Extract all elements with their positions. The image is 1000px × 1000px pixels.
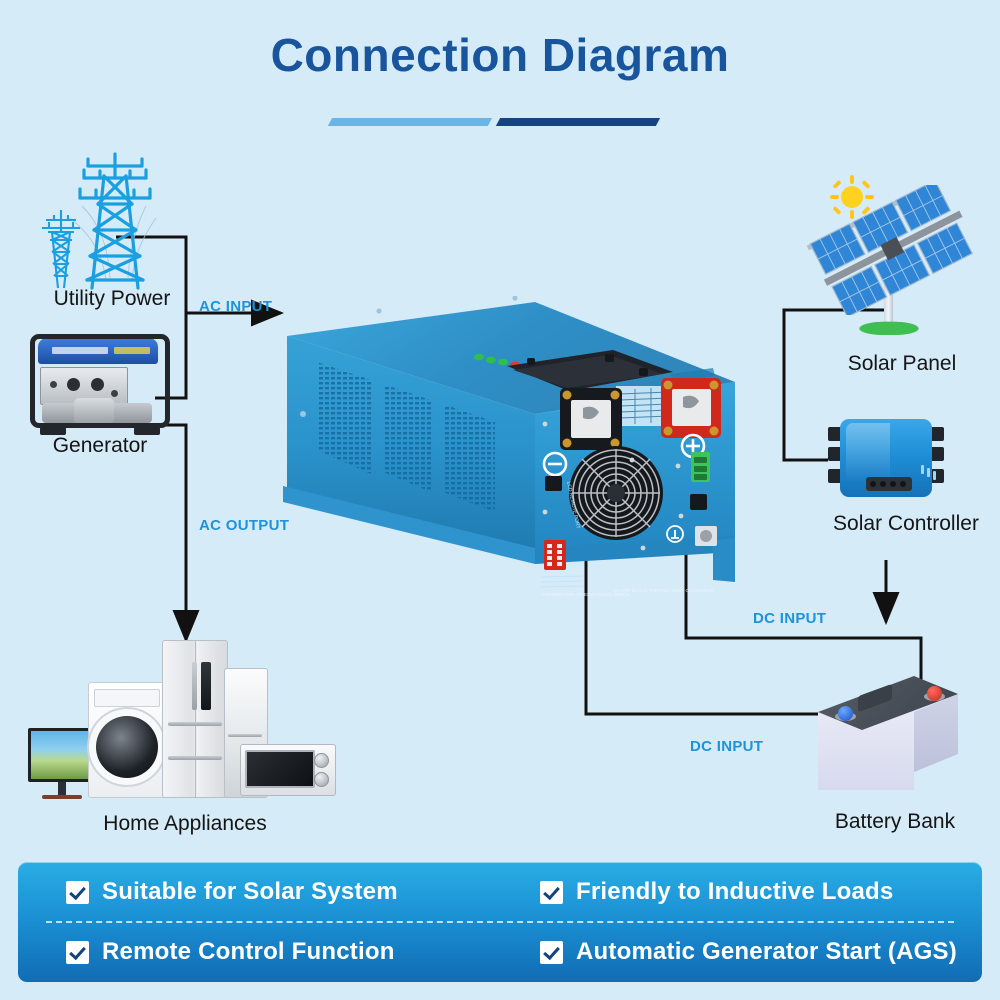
battery-icon xyxy=(818,668,966,800)
appliances-icon xyxy=(28,630,348,820)
divider-dark-segment xyxy=(496,118,660,126)
features-row-1: Suitable for Solar System Friendly to In… xyxy=(18,863,982,921)
feature-item-4[interactable]: Automatic Generator Start (AGS) xyxy=(508,938,982,966)
portable-generator-icon xyxy=(30,334,170,428)
dc-input-lower-label: DC INPUT xyxy=(690,738,763,755)
feature-item-3[interactable]: Remote Control Function xyxy=(18,938,508,966)
dc-input-upper-label: DC INPUT xyxy=(753,610,826,627)
svg-text:DO NOT BLOCK THE FAN / KEEP CL: DO NOT BLOCK THE FAN / KEEP CLEARANCE xyxy=(613,588,714,593)
feature-item-1[interactable]: Suitable for Solar System xyxy=(18,878,508,906)
home-appliances-label: Home Appliances xyxy=(40,812,330,836)
utility-power-label: Utility Power xyxy=(12,287,212,311)
battery-bank-label: Battery Bank xyxy=(800,810,990,834)
ac-input-label: AC INPUT xyxy=(199,298,272,315)
refrigerator-icon xyxy=(162,640,228,798)
feature-label: Remote Control Function xyxy=(102,938,395,966)
charge-controller-icon xyxy=(822,415,950,503)
microwave-icon xyxy=(240,744,336,796)
feature-label: Friendly to Inductive Loads xyxy=(576,878,893,906)
generator-label: Generator xyxy=(20,434,180,458)
title-divider xyxy=(330,118,670,128)
washing-machine-icon xyxy=(88,682,166,798)
divider-light-segment xyxy=(328,118,492,126)
battery-positive-terminal xyxy=(927,686,942,701)
features-banner: Suitable for Solar System Friendly to In… xyxy=(18,862,982,982)
ac-output-label: AC OUTPUT xyxy=(199,517,289,534)
solar-controller-label: Solar Controller xyxy=(806,512,1000,536)
power-inverter-icon: LCD REMOTE PORT CAUTION: RISK OF ELECTRI… xyxy=(283,296,738,596)
feature-item-2[interactable]: Friendly to Inductive Loads xyxy=(508,878,982,906)
checkbox-icon xyxy=(540,881,563,904)
transmission-tower-icon xyxy=(36,148,186,296)
solar-panel-icon xyxy=(790,175,990,350)
diagram-canvas: Connection Diagram xyxy=(0,0,1000,1000)
page-title: Connection Diagram xyxy=(0,28,1000,82)
tv-icon xyxy=(28,728,96,782)
feature-label: Automatic Generator Start (AGS) xyxy=(576,938,957,966)
battery-negative-terminal xyxy=(838,706,853,721)
checkbox-icon xyxy=(66,881,89,904)
checkbox-icon xyxy=(540,941,563,964)
features-row-2: Remote Control Function Automatic Genera… xyxy=(18,923,982,981)
checkbox-icon xyxy=(66,941,89,964)
solar-panel-label: Solar Panel xyxy=(812,352,992,376)
feature-label: Suitable for Solar System xyxy=(102,878,398,906)
